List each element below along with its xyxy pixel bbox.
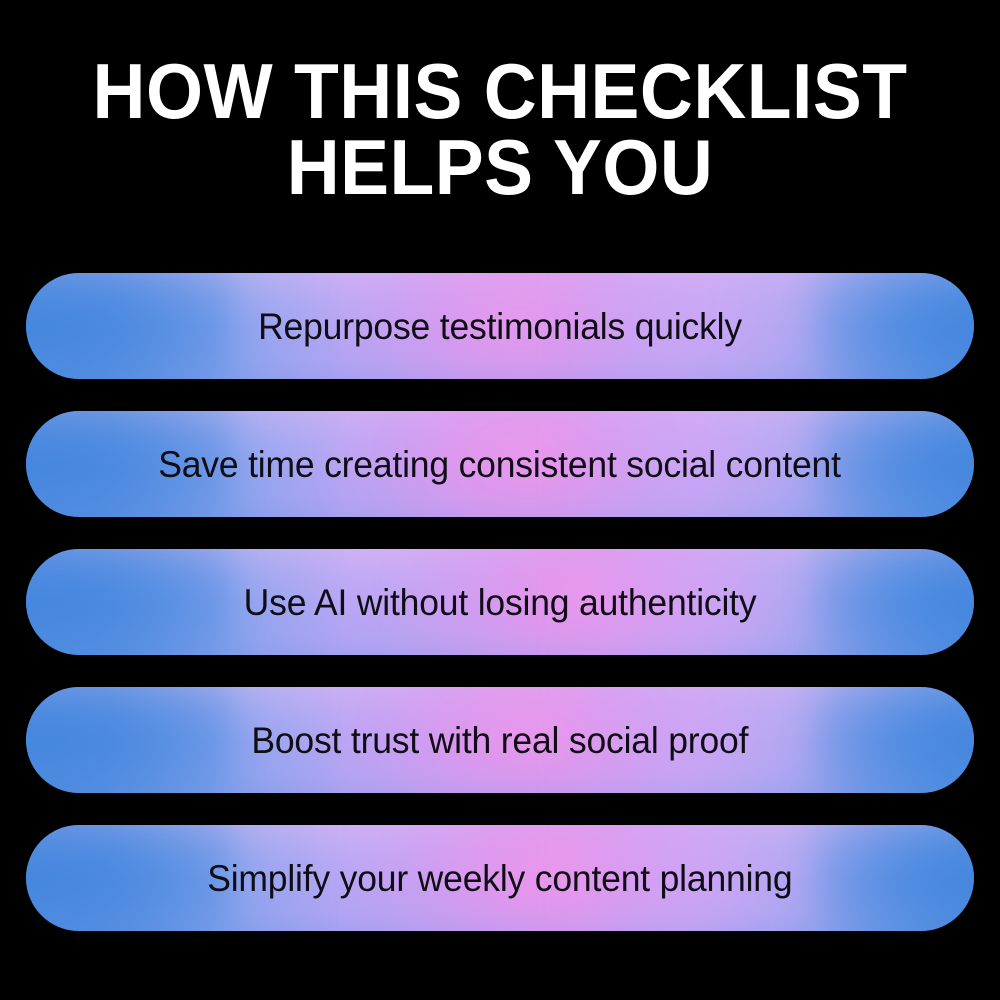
blue-bloom-right-icon-5	[813, 825, 974, 931]
blue-bloom-left-icon-5	[26, 825, 235, 931]
blue-bloom-right-icon-4	[813, 687, 974, 793]
benefit-pill-3[interactable]: Use AI without losing authenticity	[26, 549, 974, 655]
blue-bloom-left-icon-4	[26, 687, 235, 793]
benefit-pill-2[interactable]: Save time creating consistent social con…	[26, 411, 974, 517]
blue-bloom-right-icon-3	[813, 549, 974, 655]
blue-bloom-left-icon-3	[26, 549, 235, 655]
benefit-pill-4[interactable]: Boost trust with real social proof	[26, 687, 974, 793]
benefit-pill-label-2: Save time creating consistent social con…	[159, 446, 842, 483]
benefit-pill-label-4: Boost trust with real social proof	[252, 722, 749, 759]
page-title-line-1: HOW THIS CHECKLIST	[58, 54, 942, 130]
benefit-pill-5[interactable]: Simplify your weekly content planning	[26, 825, 974, 931]
benefit-pill-label-3: Use AI without losing authenticity	[244, 584, 757, 621]
benefit-pill-list: Repurpose testimonials quickly Save time…	[26, 273, 974, 931]
benefit-pill-label-1: Repurpose testimonials quickly	[258, 308, 742, 345]
benefit-pill-label-5: Simplify your weekly content planning	[207, 860, 792, 897]
benefit-pill-1[interactable]: Repurpose testimonials quickly	[26, 273, 974, 379]
page-title: HOW THIS CHECKLIST HELPS YOU	[58, 54, 942, 205]
blue-bloom-right-icon-1	[813, 273, 974, 379]
blue-bloom-left-icon-1	[26, 273, 235, 379]
page-title-line-2: HELPS YOU	[58, 130, 942, 206]
poster-canvas: HOW THIS CHECKLIST HELPS YOU Repurpose t…	[0, 0, 1000, 1000]
